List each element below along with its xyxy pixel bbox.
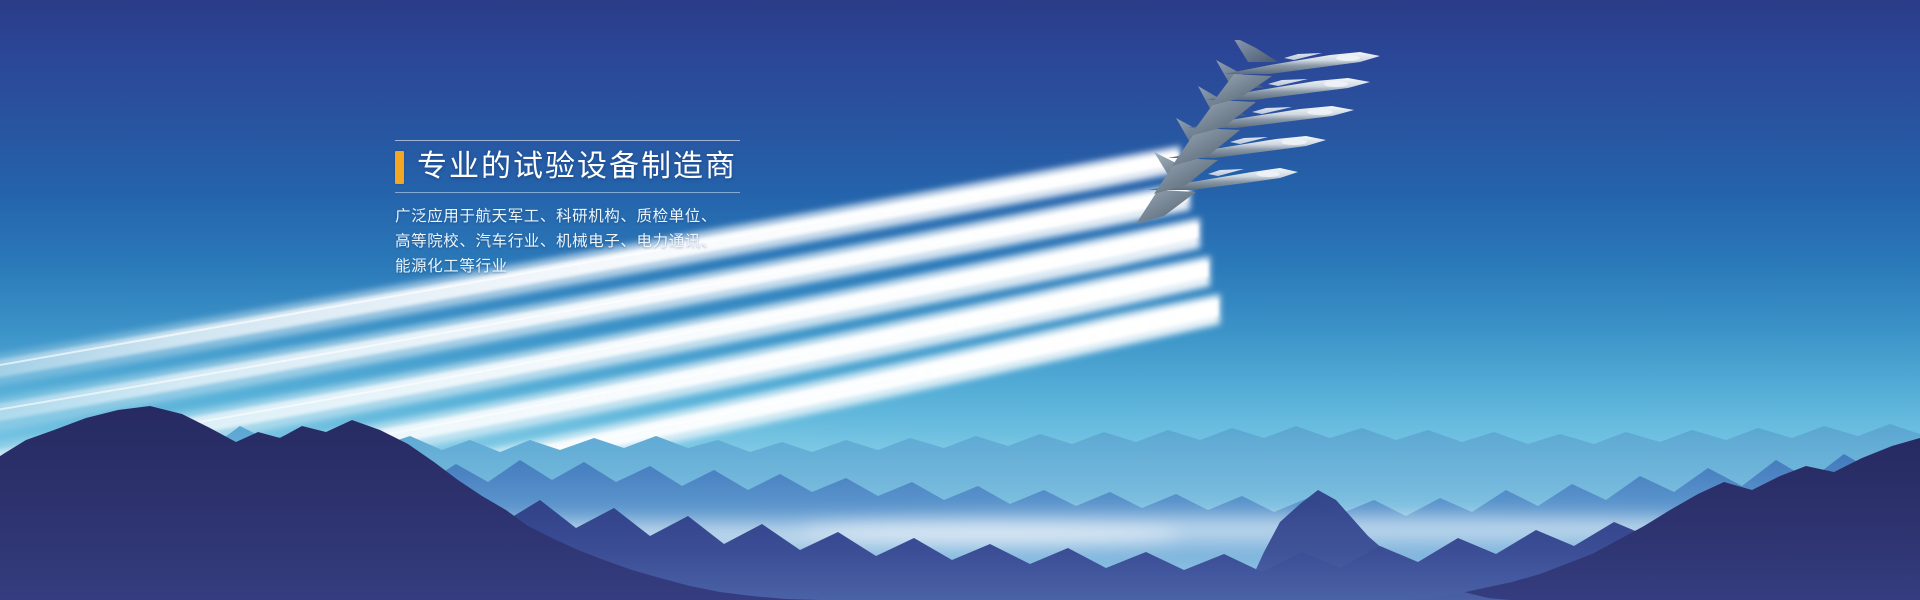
description-line-1: 广泛应用于航天军工、科研机构、质检单位、: [395, 204, 740, 229]
divider-bottom: [395, 192, 740, 193]
description-line-3: 能源化工等行业: [395, 254, 740, 279]
fighter-jet-formation-icon: [1120, 40, 1520, 280]
page-title: 专业的试验设备制造商: [417, 150, 737, 184]
description-line-2: 高等院校、汽车行业、机械电子、电力通讯、: [395, 229, 740, 254]
hero-banner: 专业的试验设备制造商 广泛应用于航天军工、科研机构、质检单位、 高等院校、汽车行…: [0, 0, 1920, 600]
banner-copy-block: 专业的试验设备制造商 广泛应用于航天军工、科研机构、质检单位、 高等院校、汽车行…: [395, 140, 740, 279]
divider-top: [395, 140, 740, 141]
accent-bar: [395, 151, 404, 184]
jet-1-lead: [1210, 40, 1380, 106]
mountain-range-silhouette: [0, 340, 1920, 600]
headline-row: 专业的试验设备制造商: [395, 150, 740, 184]
banner-description: 广泛应用于航天军工、科研机构、质检单位、 高等院校、汽车行业、机械电子、电力通讯…: [395, 204, 740, 279]
